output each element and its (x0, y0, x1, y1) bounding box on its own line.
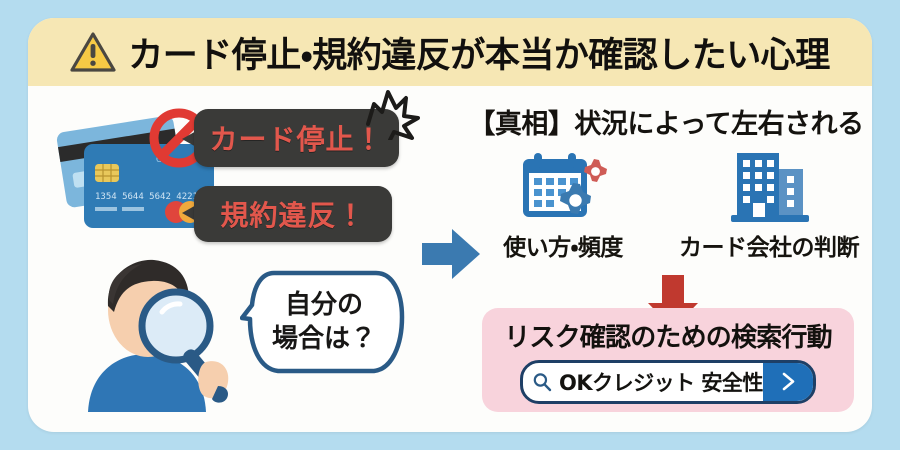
factor-label: カード会社の判断 (679, 228, 859, 262)
speech-line-2: 場合は？ (272, 325, 376, 355)
calendar-gears-icon (517, 146, 609, 226)
question-speech-bubble: 自分の 場合は？ (240, 261, 408, 385)
factor-label: 使い方・頻度 (503, 228, 623, 262)
gear-red-icon (584, 159, 607, 182)
speech-line-1: 自分の (285, 291, 363, 321)
search-query-text: OKクレジット 安全性 (559, 367, 763, 397)
truth-heading: 【真相】状況によって左右される (460, 102, 872, 141)
magnifier-icon (532, 372, 552, 392)
left-panel: 1354 5644 5642 4221 OK カード停止！ (28, 86, 428, 432)
office-building-icon (725, 146, 813, 226)
outcome-panel: リスク確認のための検索行動 OKクレジット 安全性 (482, 308, 854, 412)
alert-bubble-text: カード停止！ (209, 118, 383, 158)
infographic-canvas: カード停止・規約違反が本当か確認したい心理 1354 5644 5642 422… (0, 0, 900, 450)
factor-usage: 使い方・頻度 (468, 146, 658, 262)
starburst-icon (360, 84, 422, 140)
alert-bubble-terms-violation: 規約違反！ (194, 186, 392, 242)
header-band: カード停止・規約違反が本当か確認したい心理 (28, 18, 872, 86)
outcome-title: リスク確認のための検索行動 (504, 317, 832, 354)
page-title: カード停止・規約違反が本当か確認したい心理 (128, 27, 829, 78)
search-input[interactable]: OKクレジット 安全性 (520, 360, 816, 404)
person-with-magnifier-icon (66, 254, 256, 414)
content-card: カード停止・規約違反が本当か確認したい心理 1354 5644 5642 422… (28, 18, 872, 432)
alert-bubble-text: 規約違反！ (220, 194, 365, 234)
card-number: 1354 5644 5642 4221 (95, 192, 198, 202)
factor-issuer-decision: カード会社の判断 (674, 146, 864, 262)
warning-triangle-icon (70, 31, 116, 73)
factor-list: 使い方・頻度 (460, 146, 872, 266)
right-panel: 【真相】状況によって左右される (460, 86, 872, 432)
chevron-right-icon (780, 372, 797, 391)
search-go-button[interactable] (763, 363, 815, 401)
